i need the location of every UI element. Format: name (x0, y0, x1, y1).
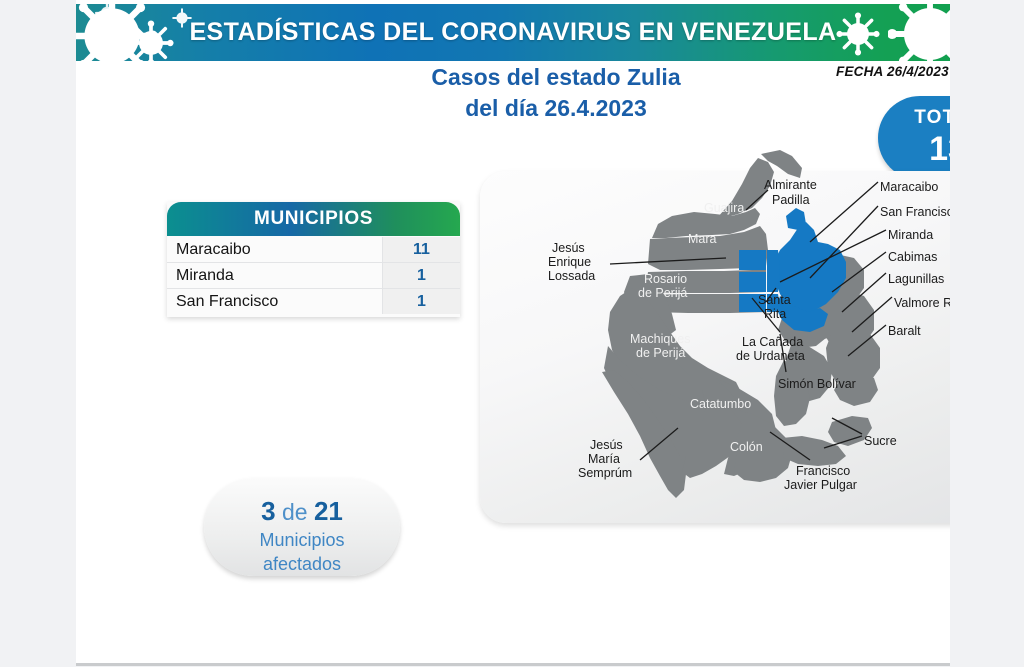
map-panel: Guajira Mara Rosario de Perijá Machiques… (480, 171, 950, 523)
map-label-santa-rita: Santa (758, 293, 791, 307)
affected-count-line: 3 de 21 (204, 496, 400, 527)
affected-label-line-2: afectados (204, 553, 400, 575)
table-row[interactable]: Miranda 1 (167, 263, 460, 289)
affected-total: 21 (314, 496, 343, 526)
affected-municipalities-badge: 3 de 21 Municipios afectados (204, 478, 400, 576)
municipio-value: 11 (382, 237, 460, 262)
banner-title: ESTADÍSTICAS DEL CORONAVIRUS EN VENEZUEL… (76, 4, 950, 61)
map-label-santa-rita: Rita (764, 307, 786, 321)
map-inner-label: de Perijá (636, 346, 685, 360)
map-label-valmore-rodriguez: Valmore Rodríguez (894, 296, 950, 310)
header-banner: ESTADÍSTICAS DEL CORONAVIRUS EN VENEZUEL… (76, 4, 950, 61)
map-inner-label: Colón (730, 440, 763, 454)
affected-count: 3 (261, 496, 275, 526)
table-row[interactable]: Maracaibo 11 (167, 237, 460, 263)
map-label-miranda: Miranda (888, 228, 933, 242)
municipio-value: 1 (382, 263, 460, 288)
affected-label-line-1: Municipios (204, 529, 400, 551)
map-label-jesus-maria-semprum: Jesús (590, 438, 623, 452)
map-label-jesus-enrique-lossada: Enrique (548, 255, 591, 269)
map-inner-label: Catatumbo (690, 397, 751, 411)
map-label-jesus-enrique-lossada: Jesús (552, 241, 585, 255)
map-label-lagunillas: Lagunillas (888, 272, 944, 286)
infographic-stage: ESTADÍSTICAS DEL CORONAVIRUS EN VENEZUEL… (0, 0, 1024, 667)
affected-connector: de (282, 499, 308, 525)
card-bottom-border (76, 663, 950, 666)
map-label-san-francisco: San Francisco (880, 205, 950, 219)
map-label-baralt: Baralt (888, 324, 921, 338)
map-label-maracaibo: Maracaibo (880, 180, 938, 194)
map-label-la-canada-de-urdaneta: de Urdaneta (736, 349, 805, 363)
total-label: TOTAL (878, 107, 950, 129)
map-label-francisco-javier-pulgar: Javier Pulgar (784, 478, 857, 492)
map-label-jesus-maria-semprum: Semprúm (578, 466, 632, 480)
map-inner-label: Mara (688, 232, 716, 246)
fecha-label: FECHA 26/4/2023 (836, 64, 950, 79)
municipios-table: MUNICIPIOS Maracaibo 11 Miranda 1 San Fr… (167, 202, 460, 317)
municipios-table-header: MUNICIPIOS (167, 202, 460, 236)
map-label-almirante-padilla: Almirante (764, 178, 817, 192)
map-inner-label: Machiques (630, 332, 690, 346)
map-label-jesus-maria-semprum: María (588, 452, 620, 466)
map-label-almirante-padilla: Padilla (772, 193, 810, 207)
page-subtitle: Casos del estado Zulia del día 26.4.2023 (276, 62, 836, 124)
map-inner-label: Guajira (704, 201, 744, 215)
map-inner-label: de Perijá (638, 286, 687, 300)
municipio-name: San Francisco (167, 293, 382, 311)
map-label-simon-bolivar: Simón Bolívar (778, 377, 856, 391)
map-label-cabimas: Cabimas (888, 250, 937, 264)
subtitle-line-1: Casos del estado Zulia (431, 64, 680, 90)
map-label-sucre: Sucre (864, 434, 897, 448)
map-inner-label: Rosario (644, 272, 687, 286)
content-card: ESTADÍSTICAS DEL CORONAVIRUS EN VENEZUEL… (76, 0, 950, 665)
municipio-name: Maracaibo (167, 241, 382, 259)
map-label-jesus-enrique-lossada: Lossada (548, 269, 595, 283)
subtitle-line-2: del día 26.4.2023 (276, 93, 836, 124)
map-label-francisco-javier-pulgar: Francisco (796, 464, 850, 478)
municipios-table-body: Maracaibo 11 Miranda 1 San Francisco 1 (167, 236, 460, 317)
municipio-name: Miranda (167, 267, 382, 285)
municipio-value: 1 (382, 289, 460, 314)
map-label-la-canada-de-urdaneta: La Cañada (742, 335, 803, 349)
table-row[interactable]: San Francisco 1 (167, 289, 460, 314)
